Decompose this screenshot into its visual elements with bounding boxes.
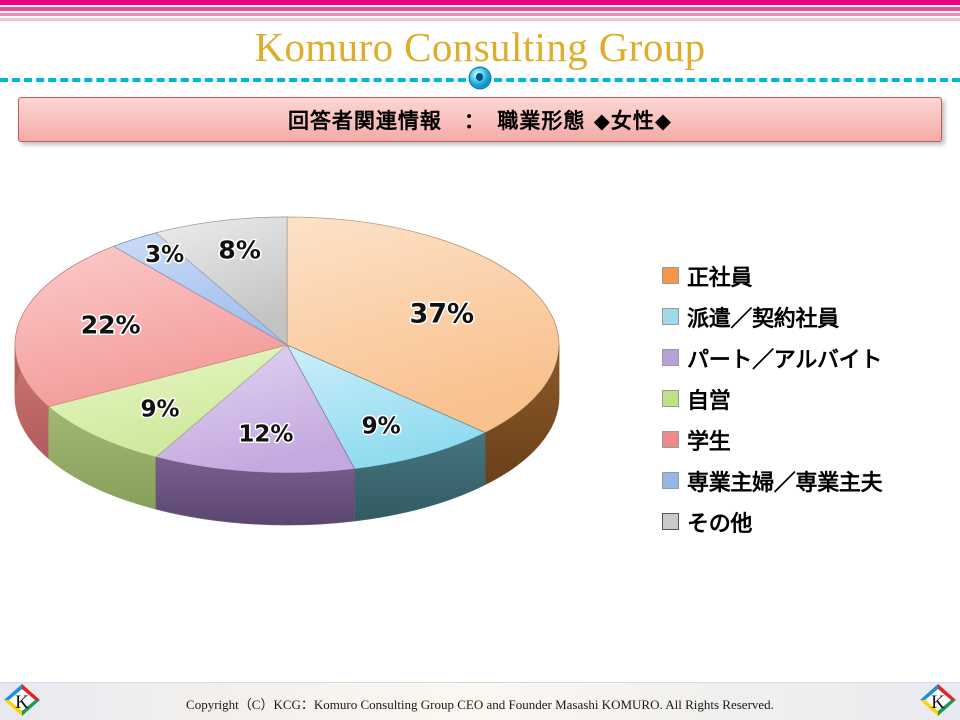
legend-item-label: 自営	[687, 383, 730, 415]
slide-canvas: Komuro Consulting Group 回答者関連情報 ： 職業形態 ◆…	[0, 0, 960, 720]
pie-chart-svg: 37%9%12%9%22%3%8%	[0, 185, 640, 585]
stripe-gap-4	[0, 21, 960, 23]
legend-item-4[interactable]: 学生	[662, 419, 960, 460]
legend-item-3[interactable]: 自営	[662, 378, 960, 419]
pie-data-label-0: 37%	[409, 299, 474, 330]
page-title: Komuro Consulting Group	[0, 24, 960, 70]
legend-swatch-icon	[662, 431, 679, 448]
legend-item-6[interactable]: その他	[662, 501, 960, 542]
legend-swatch-icon	[662, 267, 679, 284]
footer: Copyright（C）KCG：Komuro Consulting Group …	[0, 682, 960, 720]
pie-data-label-3: 9%	[141, 397, 180, 423]
circle-medallion-icon	[470, 68, 490, 88]
pie-data-label-2: 12%	[238, 422, 293, 448]
pie-data-label-4: 22%	[81, 311, 141, 340]
copyright-text: Copyright（C）KCG：Komuro Consulting Group …	[0, 694, 960, 713]
pie-chart: 37%9%12%9%22%3%8%	[0, 185, 640, 585]
legend-swatch-icon	[662, 349, 679, 366]
pie-data-label-6: 8%	[218, 236, 260, 265]
legend-swatch-icon	[662, 472, 679, 489]
svg-text:K: K	[931, 692, 945, 713]
legend-item-2[interactable]: パート／アルバイト	[662, 337, 960, 378]
kcg-diamond-logo-icon: K	[918, 682, 958, 718]
pie-data-label-1: 9%	[362, 414, 401, 440]
subtitle-banner: 回答者関連情報 ： 職業形態 ◆女性◆	[18, 97, 942, 142]
pie-data-label-5: 3%	[145, 242, 184, 268]
legend-item-label: 派遣／契約社員	[687, 301, 839, 333]
kcg-diamond-logo-icon: K	[2, 682, 42, 718]
legend-item-label: パート／アルバイト	[687, 342, 882, 374]
legend-swatch-icon	[662, 390, 679, 407]
legend-item-0[interactable]: 正社員	[662, 255, 960, 296]
legend-swatch-icon	[662, 308, 679, 325]
legend-item-label: 学生	[687, 424, 730, 456]
legend-item-label: 専業主婦／専業主夫	[687, 465, 882, 497]
chart-legend: 正社員 派遣／契約社員 パート／アルバイト 自営 学生 専業主婦／専業主夫 その…	[662, 255, 960, 542]
legend-item-1[interactable]: 派遣／契約社員	[662, 296, 960, 337]
top-stripe-decoration	[0, 0, 960, 24]
legend-swatch-icon	[662, 513, 679, 530]
subtitle-banner-label: 回答者関連情報 ： 職業形態 ◆女性◆	[288, 105, 672, 135]
legend-item-label: 正社員	[687, 260, 752, 292]
legend-item-5[interactable]: 専業主婦／専業主夫	[662, 460, 960, 501]
legend-item-label: その他	[687, 506, 752, 538]
svg-text:K: K	[15, 692, 29, 713]
